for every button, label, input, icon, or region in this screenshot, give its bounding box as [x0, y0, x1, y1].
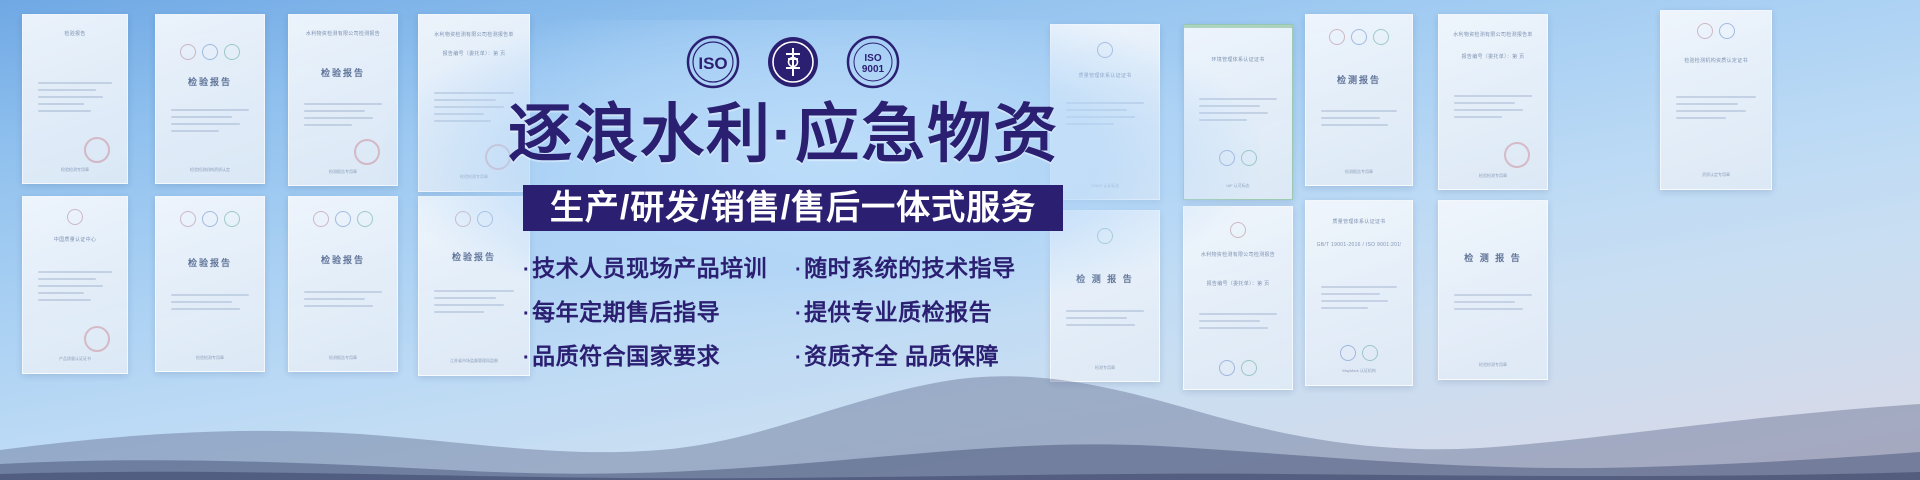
certificate-thumb: 中国质量认证中心 产品质量认证证书	[22, 196, 128, 374]
list-item: ·品质符合国家要求	[523, 334, 795, 378]
certificate-wall: 检验报告 检验检测专用章 检验报告 检验检测机构资质认定 水利物资检测有限公司检…	[0, 0, 1920, 480]
svg-text:9001: 9001	[862, 64, 885, 75]
svg-text:ISO: ISO	[698, 54, 727, 73]
bullet-marker-icon: ·	[795, 303, 802, 325]
bullet-marker-icon: ·	[795, 347, 802, 369]
bullet-marker-icon: ·	[523, 259, 530, 281]
subtitle-bar: 生产/研发/销售/售后一体式服务	[523, 185, 1063, 231]
certificate-thumb: 检验检测机构资质认定证书 资质认定专用章	[1660, 10, 1772, 190]
certificate-thumb: 水利物资检测有限公司检测报告 检验报告 检测报告专用章	[288, 14, 398, 186]
bullet-marker-icon: ·	[795, 259, 802, 281]
iso-badge: ISO	[686, 35, 740, 89]
list-item: ·技术人员现场产品培训	[523, 246, 795, 290]
bullet-marker-icon: ·	[523, 347, 530, 369]
svg-text:ISO: ISO	[864, 53, 881, 64]
certificate-thumb: 检验报告 检验检测专用章	[155, 196, 265, 372]
promo-banner: 检验报告 检验检测专用章 检验报告 检验检测机构资质认定 水利物资检测有限公司检…	[0, 0, 1920, 480]
certificate-thumb: 检验报告 检验检测专用章	[22, 14, 128, 184]
list-item: ·每年定期售后指导	[523, 290, 795, 334]
certificate-thumb: 水利物资检测有限公司检测报告 报告编号（委托单）：第 页	[1183, 206, 1293, 390]
certificate-thumb: 质量管理体系认证证书 GB/T 19001-2016 / ISO 9001:20…	[1305, 200, 1413, 386]
certificate-thumb: 检验报告 江苏省市场监督管理局监制	[418, 196, 530, 376]
certificate-thumb: 检 测 报 告 检验检测专用章	[1438, 200, 1548, 380]
list-item-label: 技术人员现场产品培训	[532, 255, 767, 281]
list-item-label: 资质齐全 品质保障	[804, 343, 999, 369]
iso-9001-badge: ISO 9001	[846, 35, 900, 89]
emblem-badge	[766, 35, 820, 89]
certificate-thumb: 检验报告 检验检测机构资质认定	[155, 14, 265, 184]
feature-list: ·技术人员现场产品培训 ·随时系统的技术指导 ·每年定期售后指导 ·提供专业质检…	[523, 246, 1068, 376]
certification-badges: ISO ISO 9001	[686, 34, 886, 90]
list-item: ·提供专业质检报告	[795, 290, 1068, 334]
certificate-thumb: 水利物资检测有限公司检测报告单 报告编号（委托单）：第 页 检验检测专用章	[1438, 14, 1548, 190]
bullet-marker-icon: ·	[523, 303, 530, 325]
list-item-label: 提供专业质检报告	[804, 299, 992, 325]
list-item-label: 随时系统的技术指导	[804, 255, 1016, 281]
list-item-label: 品质符合国家要求	[532, 343, 720, 369]
certificate-thumb: 环境管理体系认证证书 IAF 认可标志	[1183, 24, 1293, 200]
list-item: ·资质齐全 品质保障	[795, 334, 1068, 378]
list-item-label: 每年定期售后指导	[532, 299, 720, 325]
page-title: 逐浪水利·应急物资	[508, 98, 1078, 170]
certificate-thumb: 检验报告 检测报告专用章	[288, 196, 398, 372]
list-item: ·随时系统的技术指导	[795, 246, 1068, 290]
certificate-thumb: 检测报告 检测报告专用章	[1305, 14, 1413, 186]
